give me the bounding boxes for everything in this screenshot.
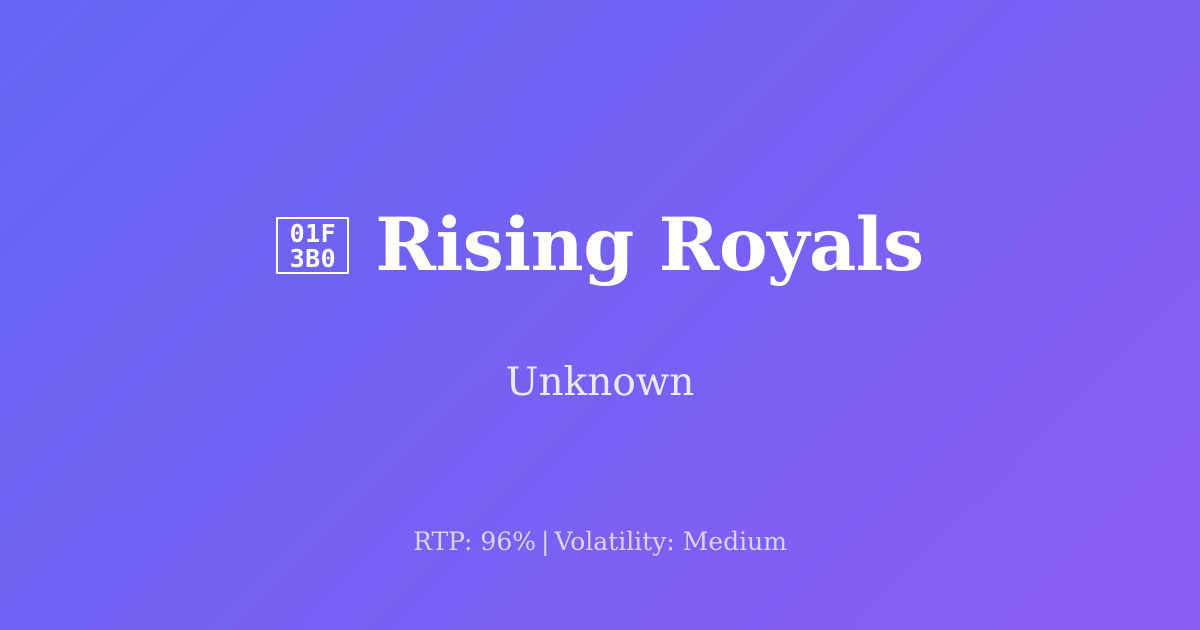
rtp-value: RTP: 96%	[413, 527, 536, 556]
title-row: 01F 3B0 Rising Royals	[0, 0, 1200, 560]
tofu-codepoint-low: 3B0	[290, 246, 337, 271]
tofu-codepoint-high: 01F	[290, 221, 337, 246]
game-meta: RTP: 96%|Volatility: Medium	[0, 527, 1200, 557]
meta-separator: |	[536, 527, 554, 556]
volatility-value: Volatility: Medium	[554, 527, 786, 556]
slot-machine-icon: 01F 3B0	[276, 217, 349, 274]
og-share-card: 01F 3B0 Rising Royals Unknown RTP: 96%|V…	[0, 0, 1200, 630]
page-title: Rising Royals	[375, 207, 923, 284]
provider-label: Unknown	[0, 360, 1200, 407]
